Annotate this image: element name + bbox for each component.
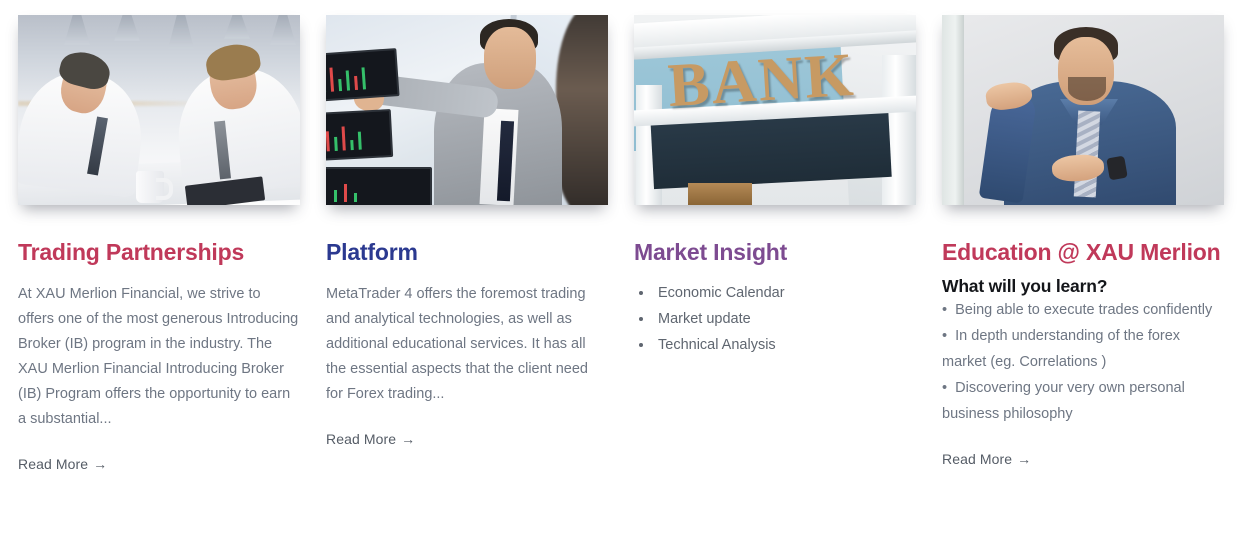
card-title: Education @ XAU Merlion (942, 238, 1224, 268)
office-meeting-illustration (18, 15, 300, 205)
presenter-illustration (942, 15, 1224, 205)
arrow-right-icon: → (1017, 451, 1031, 467)
bullet-text: Discovering your very own personal busin… (942, 380, 1185, 422)
card-trading-partnerships: Trading Partnerships At XAU Merlion Fina… (18, 15, 300, 474)
card-education: Education @ XAU Merlion What will you le… (942, 15, 1224, 469)
bullet-item: • Discovering your very own personal bus… (942, 375, 1224, 427)
list-item[interactable]: Technical Analysis (654, 332, 916, 358)
card-image-platform[interactable] (326, 15, 608, 205)
market-insight-list: Economic Calendar Market update Technica… (634, 280, 916, 358)
card-market-insight: BANK Market Insight Economic Calendar Ma… (634, 15, 916, 358)
bullet-text: In depth understanding of the forex mark… (942, 328, 1180, 370)
card-title: Market Insight (634, 238, 916, 268)
card-body-text: At XAU Merlion Financial, we strive to o… (18, 282, 300, 432)
read-more-label: Read More (942, 451, 1012, 467)
read-more-label: Read More (18, 456, 88, 472)
service-cards-row: Trading Partnerships At XAU Merlion Fina… (0, 0, 1241, 474)
bullet-dot-icon: • (942, 380, 947, 396)
list-item[interactable]: Market update (654, 306, 916, 332)
card-subtitle: What will you learn? (942, 276, 1224, 297)
read-more-link-platform[interactable]: Read More→ (326, 431, 415, 447)
read-more-link-education[interactable]: Read More→ (942, 451, 1031, 467)
bullet-dot-icon: • (942, 302, 947, 318)
bullet-dot-icon: • (942, 328, 947, 344)
read-more-label: Read More (326, 431, 396, 447)
bank-facade-illustration: BANK (634, 15, 916, 205)
card-title: Trading Partnerships (18, 238, 300, 268)
card-image-education[interactable] (942, 15, 1224, 205)
arrow-right-icon: → (93, 456, 107, 472)
bullet-text: Being able to execute trades confidently (955, 302, 1212, 318)
bullet-item: • In depth understanding of the forex ma… (942, 323, 1224, 375)
card-title: Platform (326, 238, 608, 268)
arrow-right-icon: → (401, 431, 415, 447)
card-platform: Platform MetaTrader 4 offers the foremos… (326, 15, 608, 449)
list-item[interactable]: Economic Calendar (654, 280, 916, 306)
card-image-market-insight[interactable]: BANK (634, 15, 916, 205)
read-more-link-trading-partnerships[interactable]: Read More→ (18, 456, 107, 472)
card-image-trading-partnerships[interactable] (18, 15, 300, 205)
card-body-text: MetaTrader 4 offers the foremost trading… (326, 282, 608, 407)
bullet-item: • Being able to execute trades confident… (942, 297, 1224, 323)
trader-monitors-illustration (326, 15, 608, 205)
